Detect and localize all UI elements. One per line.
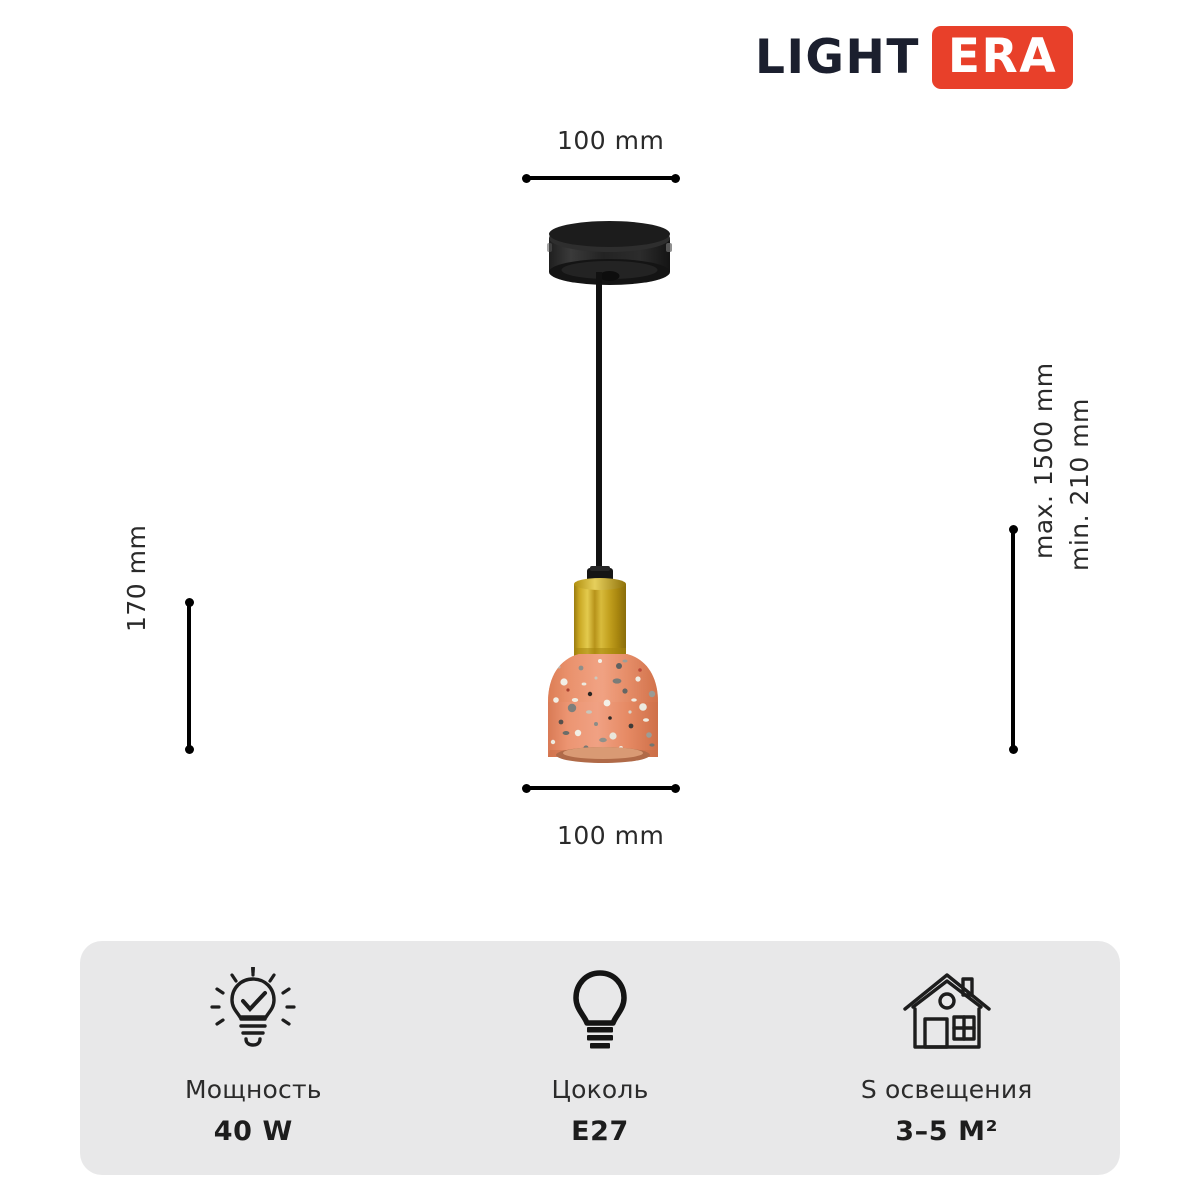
dimension-label-bottom-width: 100 mm xyxy=(557,821,664,850)
suspension-cord xyxy=(596,272,602,582)
brass-socket-housing xyxy=(574,578,626,656)
spec-value-area: 3–5 M² xyxy=(895,1116,998,1147)
product-spec-sheet: LIGHT ERA xyxy=(0,0,1200,1200)
dimension-line-bottom-width xyxy=(524,786,678,790)
house-icon xyxy=(897,967,997,1055)
spec-title-power: Мощность xyxy=(185,1075,322,1104)
bulb-check-icon xyxy=(205,967,301,1055)
logo-wordmark-light: LIGHT xyxy=(755,34,932,81)
spec-title-socket: Цоколь xyxy=(552,1075,649,1104)
dimension-label-length-max: max. 1500 mm xyxy=(1029,362,1058,559)
spec-value-socket: E27 xyxy=(571,1116,629,1147)
spec-value-power: 40 W xyxy=(214,1116,293,1147)
dimension-label-shade-height: 170 mm xyxy=(122,525,151,632)
terrazzo-shade xyxy=(548,654,658,763)
specification-panel: Мощность 40 W Цоколь E27 xyxy=(80,941,1120,1175)
socket-cap xyxy=(587,566,613,584)
terrazzo-speckles xyxy=(551,659,655,751)
bulb-socket-icon xyxy=(556,967,644,1055)
dimension-label-top-width: 100 mm xyxy=(557,126,664,155)
dimension-label-length-min: min. 210 mm xyxy=(1065,398,1094,571)
logo-badge: ERA xyxy=(932,26,1073,89)
brand-logo: LIGHT ERA xyxy=(755,28,1073,86)
spec-item-power: Мощность 40 W xyxy=(80,941,427,1147)
dimension-line-drop-length xyxy=(1011,527,1015,752)
spec-item-area: S освещения 3–5 M² xyxy=(773,941,1120,1147)
dimension-line-top-width xyxy=(524,176,678,180)
spec-item-socket: Цоколь E27 xyxy=(427,941,774,1147)
dimension-line-shade-height xyxy=(187,600,191,752)
logo-wordmark-era: ERA xyxy=(948,33,1057,80)
ceiling-canopy xyxy=(547,221,672,285)
spec-title-area: S освещения xyxy=(861,1075,1033,1104)
